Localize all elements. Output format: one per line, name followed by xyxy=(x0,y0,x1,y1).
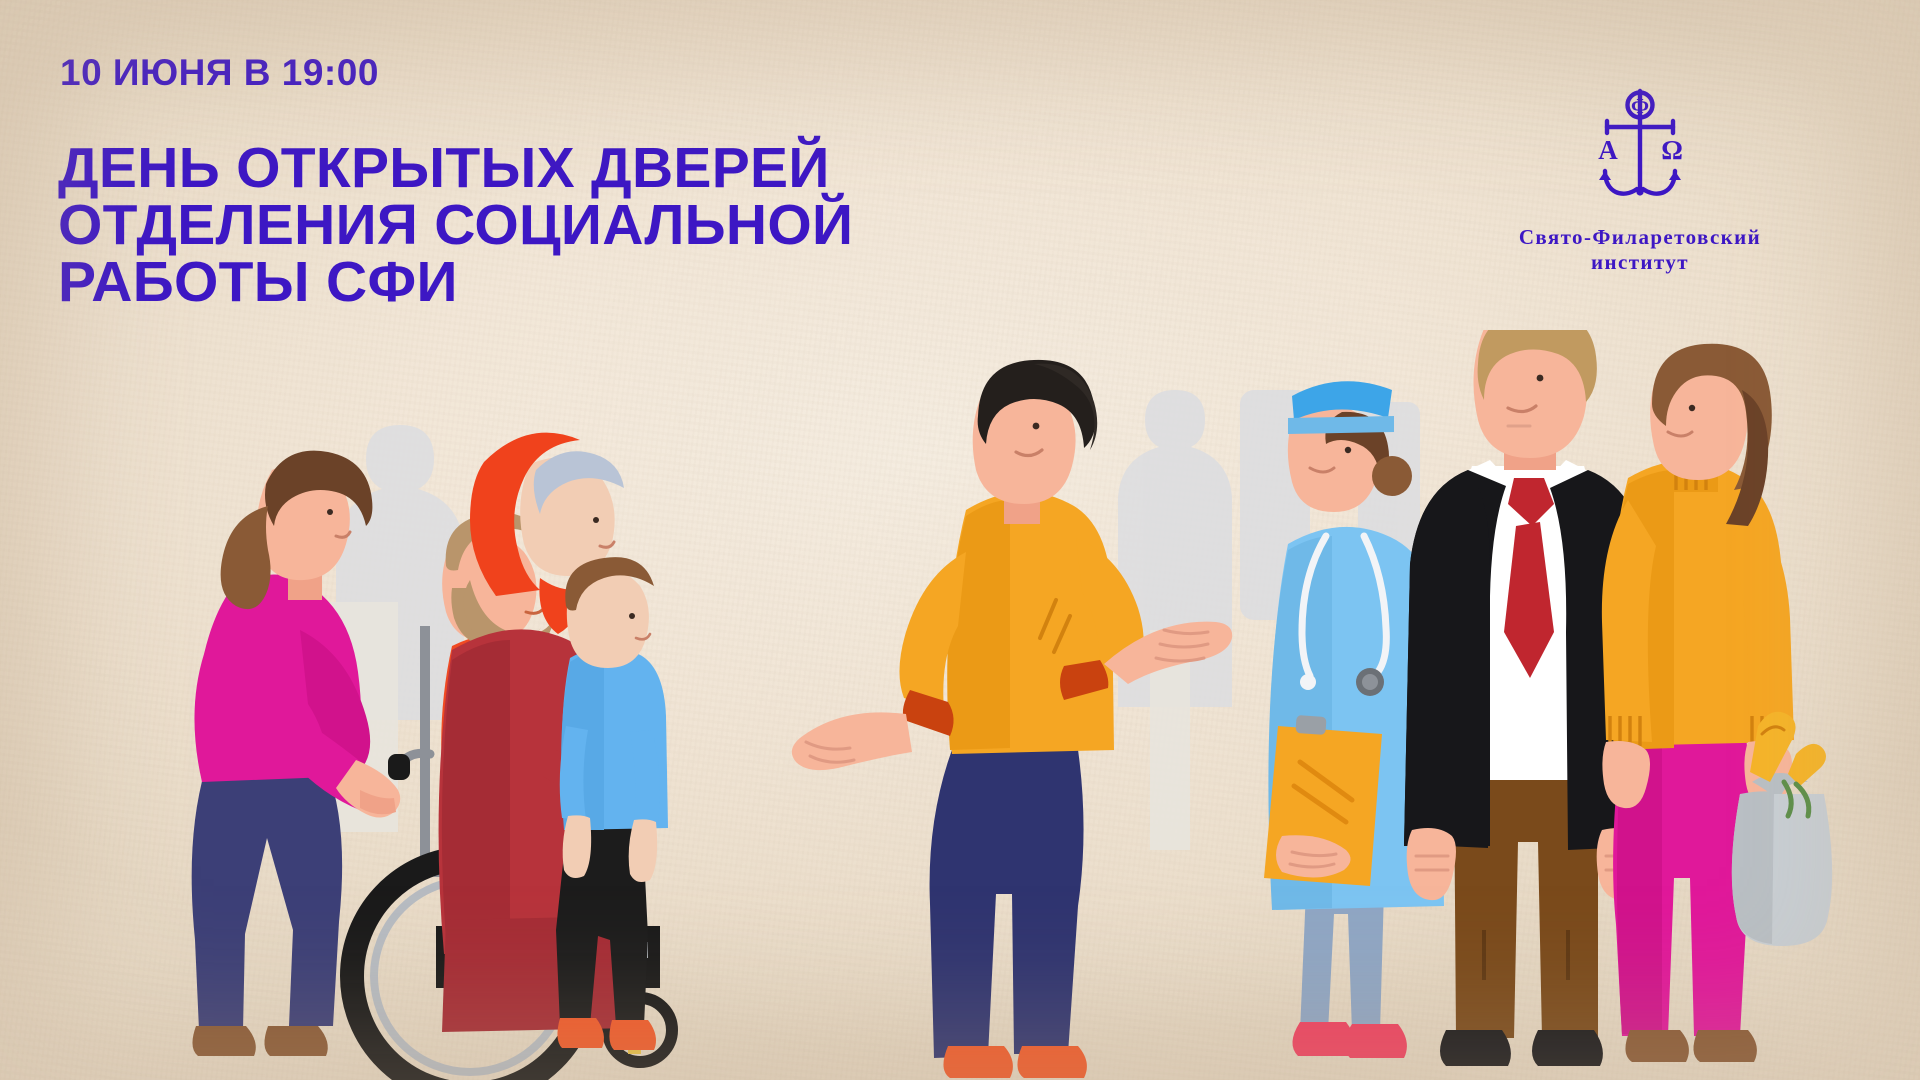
institute-name: Свято-Филаретовский институт xyxy=(1490,225,1790,275)
event-date-time: 10 ИЮНЯ В 19:00 xyxy=(60,52,379,94)
institute-name-line-1: Свято-Филаретовский xyxy=(1519,225,1761,249)
alpha-letter: А xyxy=(1598,135,1618,165)
page-title: ДЕНЬ ОТКРЫТЫХ ДВЕРЕЙ ОТДЕЛЕНИЯ СОЦИАЛЬНО… xyxy=(58,140,938,311)
headline-line-3: РАБОТЫ СФИ xyxy=(58,254,938,311)
headline-line-1: ДЕНЬ ОТКРЫТЫХ ДВЕРЕЙ xyxy=(58,140,938,197)
institute-name-line-2: институт xyxy=(1490,250,1790,275)
institute-logo: А Ω Ф Свято-Филаретовский институт xyxy=(1490,75,1790,275)
omega-letter: Ω xyxy=(1661,135,1683,165)
illustration-people-group xyxy=(0,330,1920,1080)
poster-canvas: 10 ИЮНЯ В 19:00 ДЕНЬ ОТКРЫТЫХ ДВЕРЕЙ ОТД… xyxy=(0,0,1920,1080)
people-illustration xyxy=(0,330,1920,1080)
phi-letter: Ф xyxy=(1631,94,1649,118)
figure-woman-with-shopping-bag xyxy=(1602,344,1832,1062)
headline-line-2: ОТДЕЛЕНИЯ СОЦИАЛЬНОЙ xyxy=(58,197,938,254)
anchor-cross-icon: А Ω Ф xyxy=(1575,75,1705,215)
